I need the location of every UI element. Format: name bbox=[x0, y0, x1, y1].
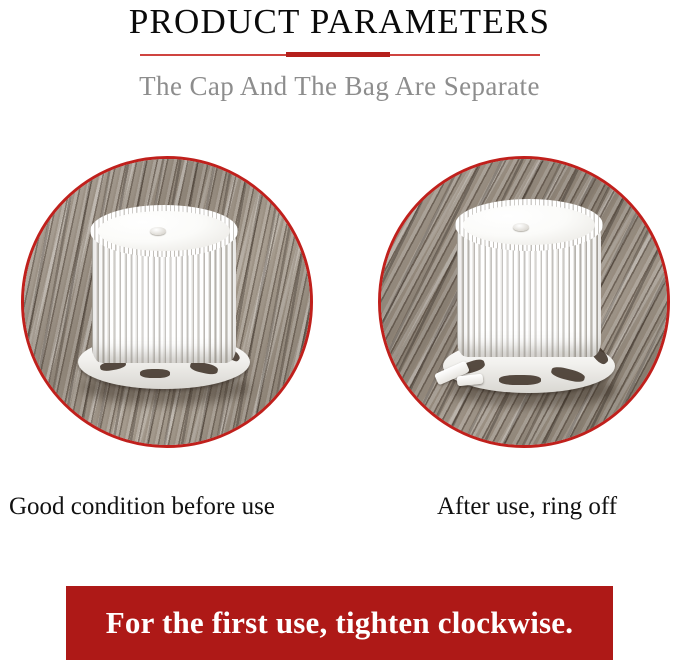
page-subtitle: The Cap And The Bag Are Separate bbox=[0, 70, 679, 102]
product-photo-cap-ring-off bbox=[378, 156, 670, 448]
cap-molding-pip bbox=[513, 223, 529, 231]
product-photo-cap-intact bbox=[21, 156, 313, 448]
caption-cap-intact: Good condition before use bbox=[9, 492, 275, 522]
title-divider bbox=[140, 50, 540, 60]
ring-slot bbox=[550, 365, 586, 384]
product-photo-row bbox=[0, 156, 679, 456]
caption-cap-ring-off: After use, ring off bbox=[437, 492, 617, 522]
instruction-banner-text: For the first use, tighten clockwise. bbox=[106, 605, 573, 641]
photo-captions: Good condition before use After use, rin… bbox=[0, 492, 679, 532]
plastic-cap-intact bbox=[76, 203, 252, 408]
divider-accent-bar bbox=[286, 52, 390, 57]
plastic-cap-ring-off bbox=[441, 197, 617, 407]
ring-slot bbox=[499, 375, 541, 385]
cap-molding-pip bbox=[150, 227, 166, 235]
header: PRODUCT PARAMETERS The Cap And The Bag A… bbox=[0, 0, 679, 102]
page-title: PRODUCT PARAMETERS bbox=[0, 2, 679, 42]
ring-slot bbox=[140, 369, 170, 378]
instruction-banner: For the first use, tighten clockwise. bbox=[66, 586, 613, 660]
cap-top-disc bbox=[463, 205, 595, 245]
